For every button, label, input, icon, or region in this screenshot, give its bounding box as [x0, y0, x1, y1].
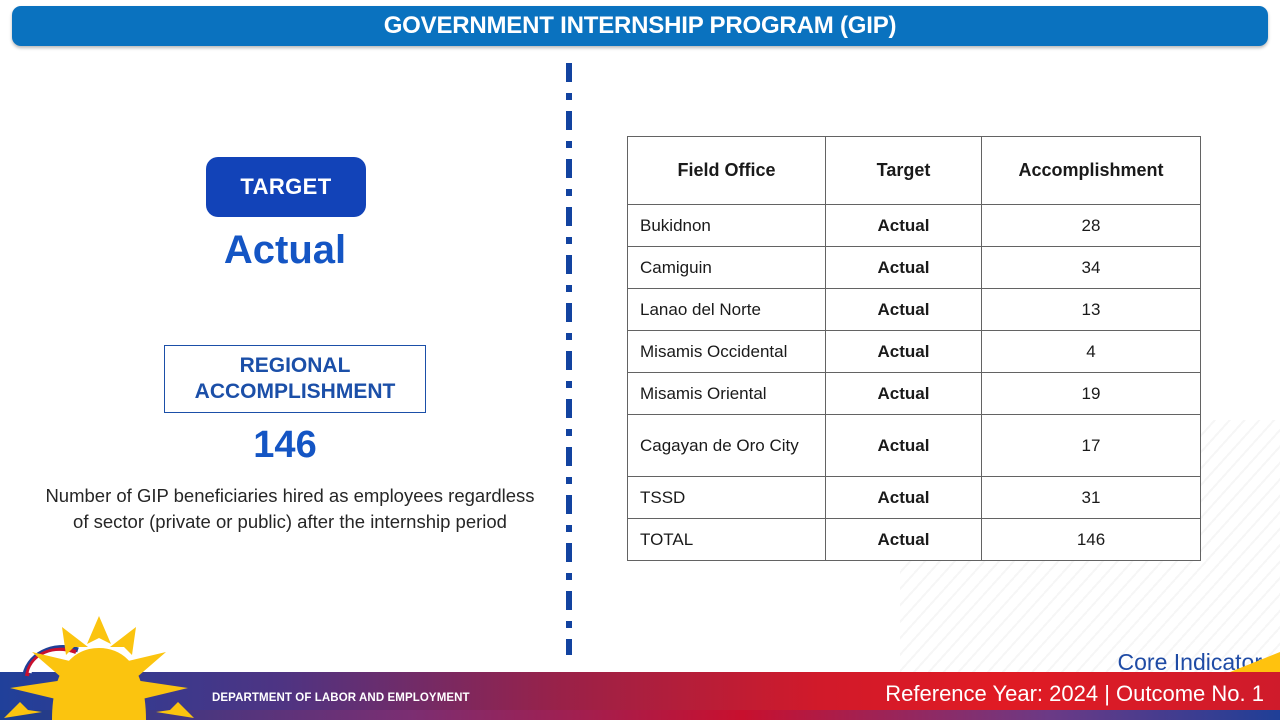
table-row: Misamis OrientalActual19 [628, 373, 1201, 415]
table-row: TSSDActual31 [628, 477, 1201, 519]
cell-target: Actual [826, 331, 982, 373]
regional-accomplishment-box: REGIONAL ACCOMPLISHMENT [164, 345, 426, 413]
target-value: Actual [0, 228, 570, 273]
cell-field-office: Lanao del Norte [628, 289, 826, 331]
reference-year-label: Reference Year: 2024 | Outcome No. 1 [885, 681, 1264, 707]
regional-accomplishment-value: 146 [0, 424, 570, 467]
philippine-sun-logo [0, 614, 202, 720]
cell-field-office: Misamis Oriental [628, 373, 826, 415]
vertical-dash-dot-divider [566, 63, 572, 655]
target-chip: TARGET [206, 157, 366, 217]
department-label: DEPARTMENT OF LABOR AND EMPLOYMENT [212, 692, 470, 704]
cell-target: Actual [826, 477, 982, 519]
accomplishment-table: Field Office Target Accomplishment Bukid… [627, 136, 1201, 561]
cell-field-office: TSSD [628, 477, 826, 519]
cell-field-office: Misamis Occidental [628, 331, 826, 373]
indicator-description: Number of GIP beneficiaries hired as emp… [40, 483, 540, 535]
slide-canvas: GOVERNMENT INTERNSHIP PROGRAM (GIP) TARG… [0, 0, 1280, 720]
table-row: TOTALActual146 [628, 519, 1201, 561]
cell-target: Actual [826, 205, 982, 247]
table-row: BukidnonActual28 [628, 205, 1201, 247]
slide-title-bar: GOVERNMENT INTERNSHIP PROGRAM (GIP) [12, 6, 1268, 46]
cell-accomplishment: 146 [982, 519, 1201, 561]
cell-target: Actual [826, 519, 982, 561]
table-body: BukidnonActual28CamiguinActual34Lanao de… [628, 205, 1201, 561]
page-title: GOVERNMENT INTERNSHIP PROGRAM (GIP) [384, 12, 897, 40]
cell-target: Actual [826, 415, 982, 477]
cell-accomplishment: 19 [982, 373, 1201, 415]
cell-accomplishment: 17 [982, 415, 1201, 477]
cell-field-office: Camiguin [628, 247, 826, 289]
table-row: CamiguinActual34 [628, 247, 1201, 289]
column-header-accomplishment: Accomplishment [982, 137, 1201, 205]
cell-target: Actual [826, 373, 982, 415]
cell-target: Actual [826, 247, 982, 289]
table-row: Lanao del NorteActual13 [628, 289, 1201, 331]
cell-accomplishment: 34 [982, 247, 1201, 289]
table-header: Field Office Target Accomplishment [628, 137, 1201, 205]
target-chip-label: TARGET [240, 174, 331, 200]
cell-field-office: TOTAL [628, 519, 826, 561]
cell-accomplishment: 4 [982, 331, 1201, 373]
cell-field-office: Cagayan de Oro City [628, 415, 826, 477]
sun-disc [52, 648, 146, 720]
table-header-row: Field Office Target Accomplishment [628, 137, 1201, 205]
cell-target: Actual [826, 289, 982, 331]
column-header-target: Target [826, 137, 982, 205]
cell-accomplishment: 31 [982, 477, 1201, 519]
table-row: Cagayan de Oro CityActual17 [628, 415, 1201, 477]
table-row: Misamis OccidentalActual4 [628, 331, 1201, 373]
cell-accomplishment: 28 [982, 205, 1201, 247]
cell-field-office: Bukidnon [628, 205, 826, 247]
column-header-field-office: Field Office [628, 137, 826, 205]
cell-accomplishment: 13 [982, 289, 1201, 331]
regional-accomplishment-label: REGIONAL ACCOMPLISHMENT [195, 353, 396, 404]
